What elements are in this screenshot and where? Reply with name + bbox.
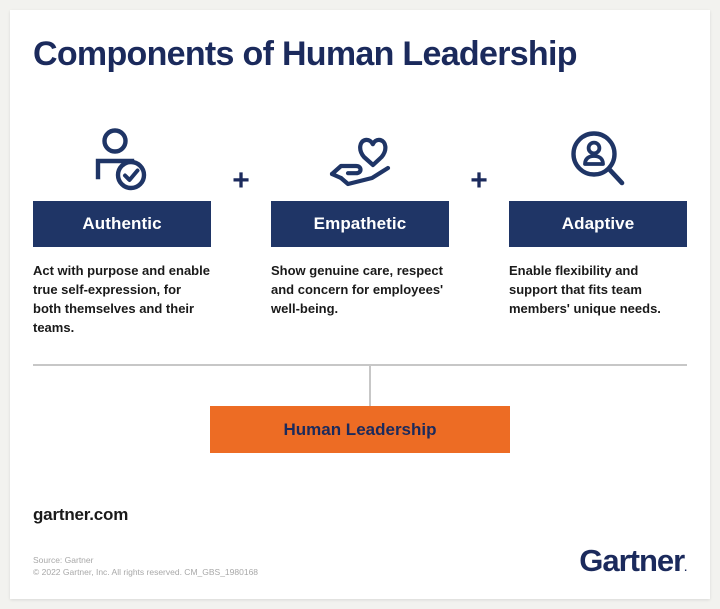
result-label: Human Leadership — [283, 420, 436, 440]
pillar-bar-empathetic[interactable]: Empathetic — [271, 201, 449, 247]
plus-separator-1: + — [211, 120, 271, 242]
pillar-authentic: Authentic Act with purpose and enable tr… — [33, 120, 211, 337]
infographic-card: Components of Human Leadership Authentic… — [10, 10, 710, 599]
plus-icon: + — [232, 166, 250, 196]
website-url[interactable]: gartner.com — [33, 505, 128, 525]
result-box-human-leadership[interactable]: Human Leadership — [210, 406, 510, 453]
copyright-line: © 2022 Gartner, Inc. All rights reserved… — [33, 566, 258, 578]
gartner-logo: Gartner. — [579, 545, 687, 576]
source-line: Source: Gartner — [33, 554, 258, 566]
page-title: Components of Human Leadership — [33, 35, 577, 74]
hand-heart-icon — [271, 120, 449, 192]
fineprint: Source: Gartner © 2022 Gartner, Inc. All… — [33, 554, 258, 579]
gartner-logo-text: Gartner — [579, 543, 684, 578]
pillar-description: Enable flexibility and support that fits… — [509, 261, 687, 318]
pillar-label: Adaptive — [562, 214, 635, 234]
pillars-row: Authentic Act with purpose and enable tr… — [33, 120, 687, 337]
plus-icon: + — [470, 166, 488, 196]
pillar-description: Show genuine care, respect and concern f… — [271, 261, 449, 318]
registered-mark: . — [684, 563, 687, 574]
person-magnifier-icon — [509, 120, 687, 192]
pillar-adaptive: Adaptive Enable flexibility and support … — [509, 120, 687, 318]
plus-separator-2: + — [449, 120, 509, 242]
pillar-bar-authentic[interactable]: Authentic — [33, 201, 211, 247]
pillar-bar-adaptive[interactable]: Adaptive — [509, 201, 687, 247]
pillar-description: Act with purpose and enable true self-ex… — [33, 261, 211, 337]
pillar-empathetic: Empathetic Show genuine care, respect an… — [271, 120, 449, 318]
horizontal-divider — [33, 364, 687, 366]
pillar-label: Empathetic — [314, 214, 407, 234]
pillar-label: Authentic — [82, 214, 161, 234]
person-check-icon — [33, 120, 211, 192]
